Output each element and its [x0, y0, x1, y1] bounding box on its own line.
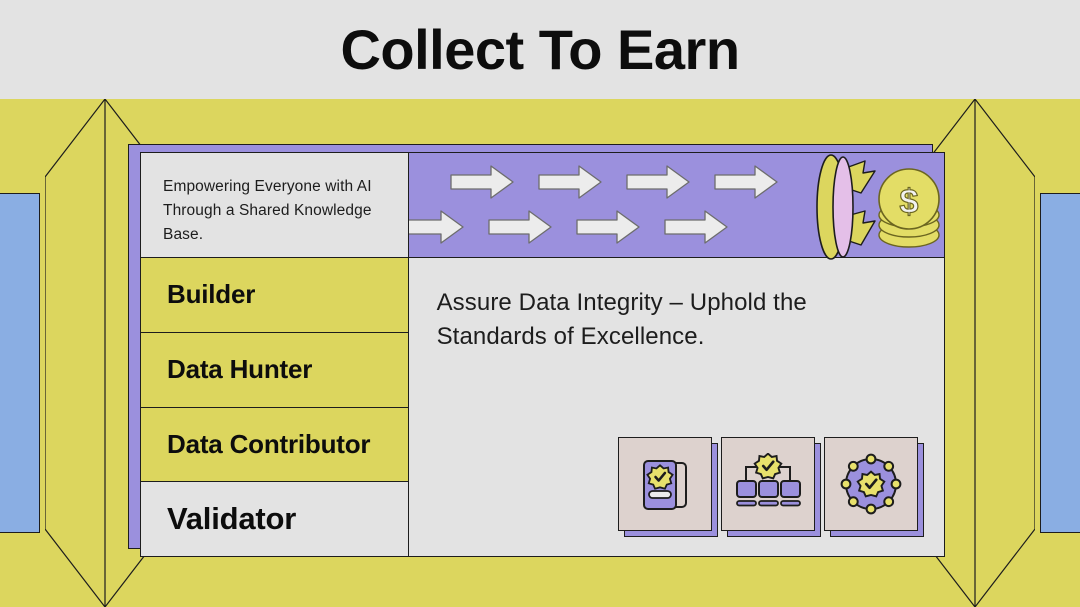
- feature-card-verified-document[interactable]: [618, 437, 712, 531]
- coin-dollar-symbol: $: [900, 183, 919, 221]
- tagline-text: Empowering Everyone with AI Through a Sh…: [163, 175, 386, 247]
- feature-icon-row: [409, 437, 944, 556]
- headline-text: Assure Data Integrity – Uphold the Stand…: [437, 286, 916, 354]
- arrow-flow-icons: [409, 153, 789, 257]
- sidebar: Empowering Everyone with AI Through a Sh…: [141, 153, 409, 556]
- blue-accent-left: [0, 193, 40, 533]
- sidebar-item-builder[interactable]: Builder: [141, 258, 408, 333]
- headline-block: Assure Data Integrity – Uphold the Stand…: [409, 258, 944, 354]
- sidebar-item-validator[interactable]: Validator: [141, 482, 408, 556]
- sidebar-item-label: Validator: [167, 501, 296, 537]
- page-title: Collect To Earn: [340, 22, 739, 78]
- feature-card-face: [721, 437, 815, 531]
- title-bar: Collect To Earn: [0, 0, 1080, 99]
- feature-card-face: [618, 437, 712, 531]
- slide-canvas: Collect To Earn Empowering Everyone with: [0, 0, 1080, 607]
- sidebar-item-label: Builder: [167, 279, 255, 310]
- feature-card-face: [824, 437, 918, 531]
- sidebar-item-data-contributor[interactable]: Data Contributor: [141, 408, 408, 483]
- sidebar-item-label: Data Contributor: [167, 429, 370, 460]
- sidebar-item-label: Data Hunter: [167, 354, 312, 385]
- verified-network-icon: [837, 450, 905, 518]
- portal-ring-icon: [817, 155, 853, 259]
- arrow-banner: $: [409, 153, 944, 258]
- content-card: Empowering Everyone with AI Through a Sh…: [140, 152, 945, 557]
- tagline-block: Empowering Everyone with AI Through a Sh…: [141, 153, 408, 258]
- verified-hierarchy-icon: [733, 453, 803, 515]
- feature-card-verified-network[interactable]: [824, 437, 918, 531]
- decorative-frame: Empowering Everyone with AI Through a Sh…: [0, 99, 1080, 607]
- main-panel: $ Assure Data Integrity – Uphold the Sta…: [409, 153, 944, 556]
- blue-accent-right: [1040, 193, 1080, 533]
- coin-stack-icon: $: [879, 169, 939, 247]
- feature-card-verified-hierarchy[interactable]: [721, 437, 815, 531]
- portal-and-coins-icons: $: [813, 153, 945, 261]
- verified-document-icon: [632, 451, 698, 517]
- sidebar-item-data-hunter[interactable]: Data Hunter: [141, 333, 408, 408]
